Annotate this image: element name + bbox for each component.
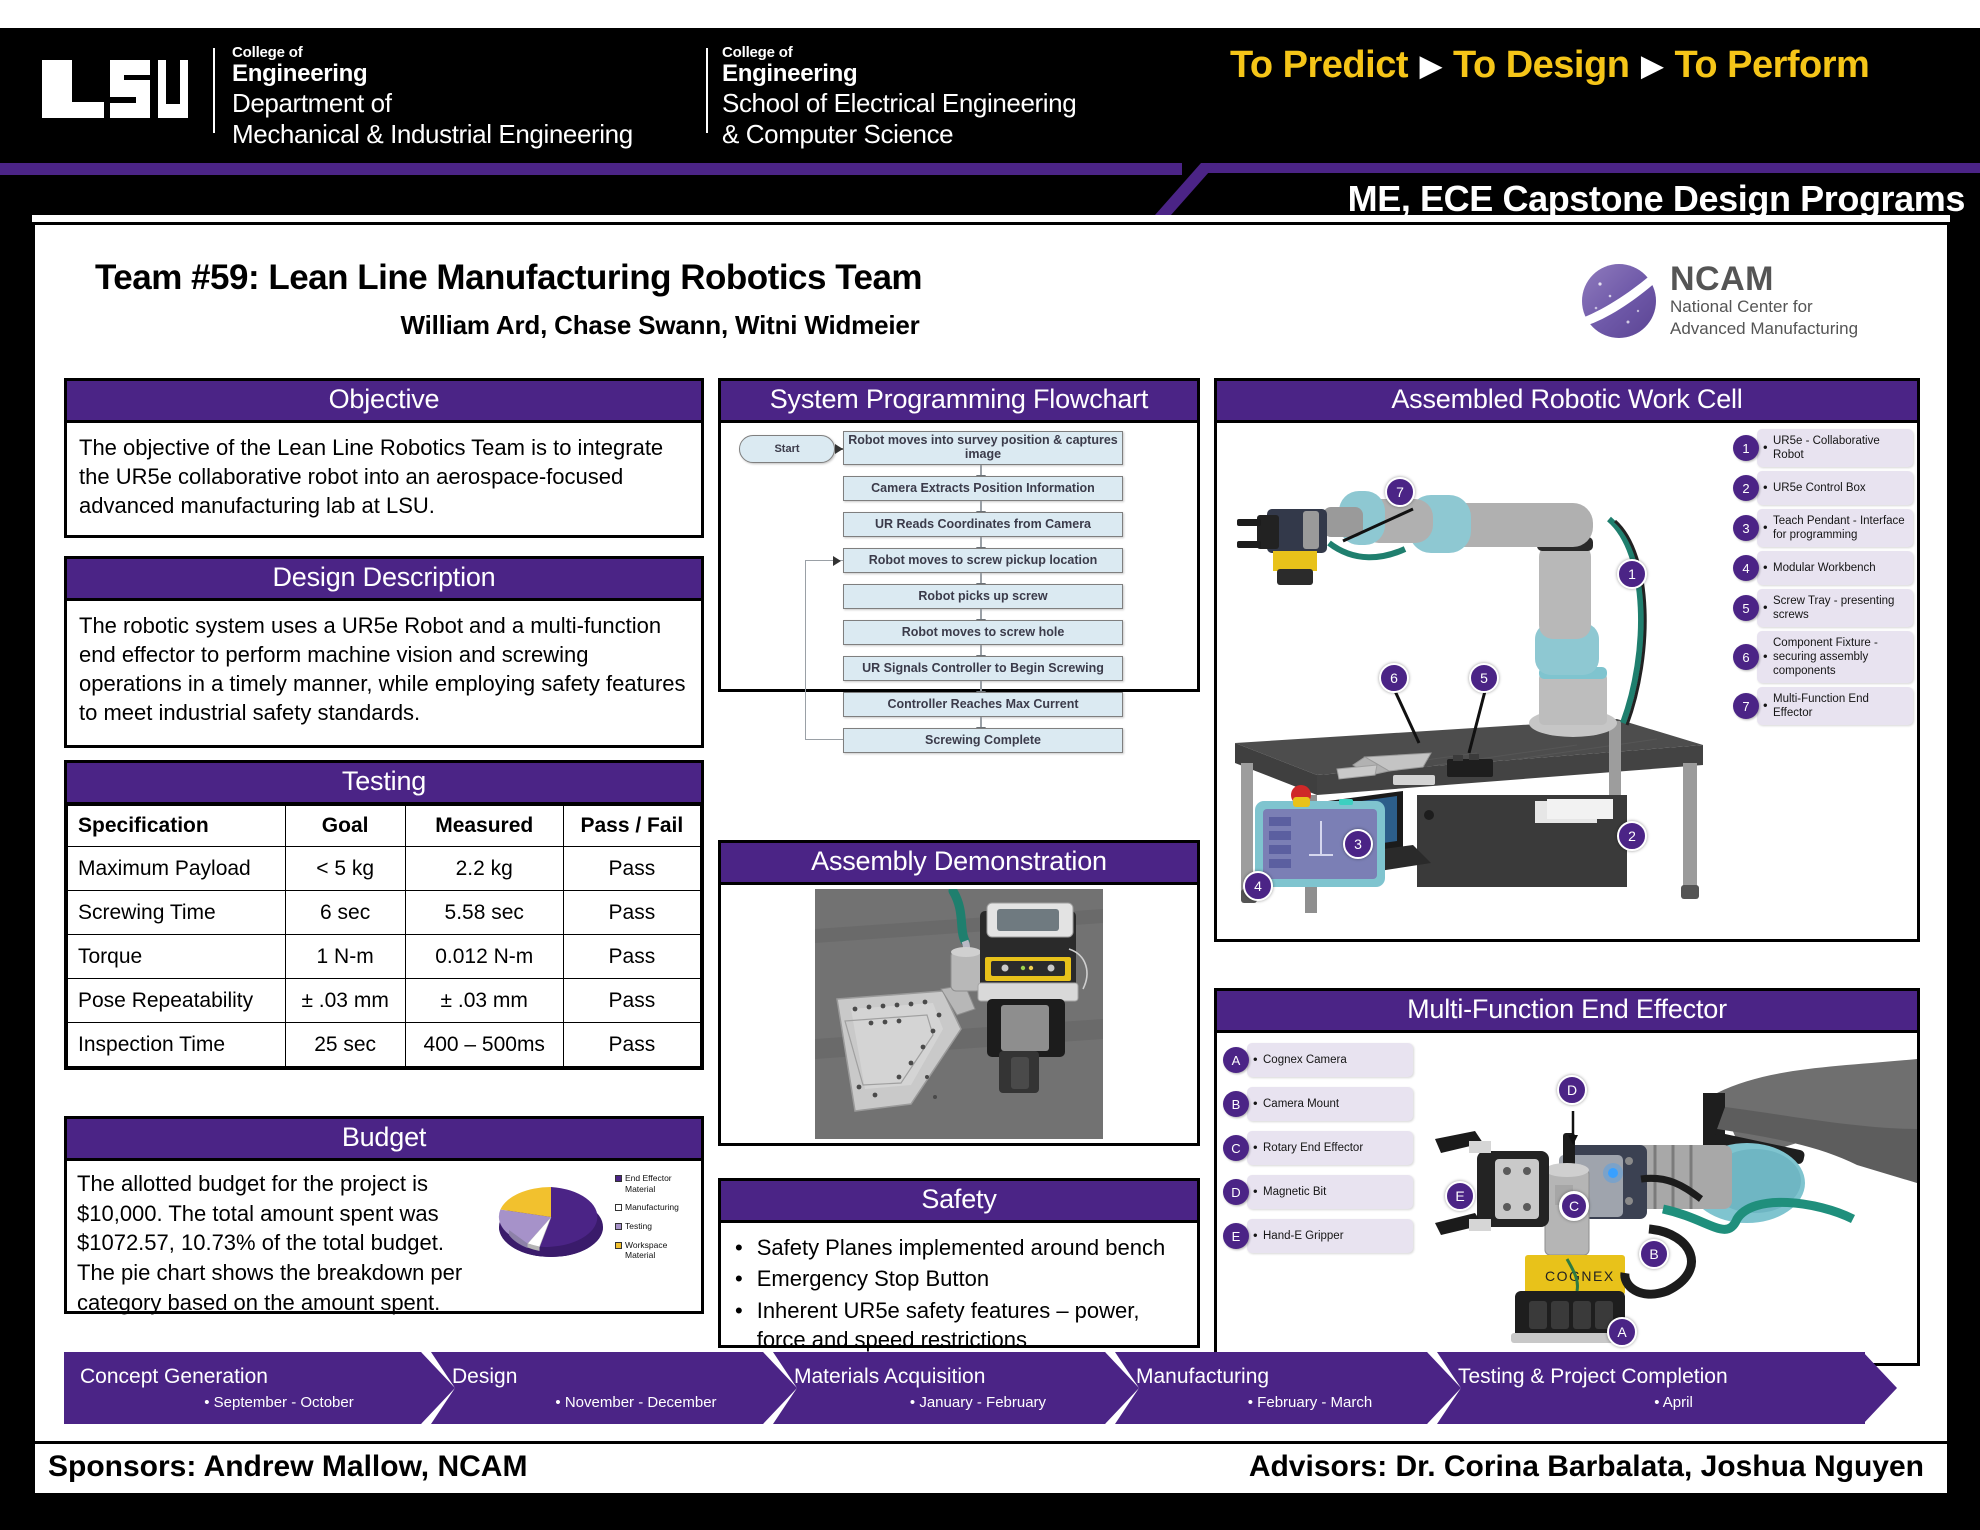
cell-spec: Pose Repeatability	[68, 979, 286, 1023]
flow-node-start: Start	[739, 435, 835, 463]
flow-arrow-8	[980, 717, 982, 728]
legend-entry-2: 2UR5e Control Box	[1733, 471, 1913, 505]
design-body: The robotic system uses a UR5e Robot and…	[67, 601, 701, 745]
legend-badge: B	[1223, 1091, 1249, 1117]
legend-item: End Effector Material	[615, 1173, 691, 1194]
flow-arrow-2	[980, 501, 982, 512]
assembly-photo	[815, 889, 1103, 1139]
pie-chart-graphic	[491, 1179, 611, 1279]
flow-node-4: Robot moves to screw pickup location	[843, 548, 1123, 573]
legend-text: Teach Pendant - Interface for programmin…	[1757, 509, 1913, 547]
cell-spec: Torque	[68, 935, 286, 979]
lsu-logo	[40, 58, 192, 120]
cell-result: Pass	[563, 847, 700, 891]
timeline-date: • January - February	[794, 1394, 1138, 1411]
flow-arrow-6	[980, 645, 982, 656]
ncam-sub1: National Center for	[1670, 296, 1858, 317]
callout-6: 6	[1379, 663, 1409, 693]
budget-body: The allotted budget for the project is $…	[77, 1169, 487, 1317]
assembly-photo-wrap	[721, 885, 1197, 1143]
panel-safety: Safety •Safety Planes implemented around…	[718, 1178, 1200, 1348]
ncam-sub2: Advanced Manufacturing	[1670, 318, 1858, 339]
header-divider-1	[213, 48, 215, 133]
flowchart-canvas: Start Robot moves into survey position &…	[721, 423, 1197, 689]
callout-4: 4	[1243, 871, 1273, 901]
ncam-logo: NCAM National Center for Advanced Manufa…	[1580, 258, 1925, 343]
legend-text: UR5e Control Box	[1757, 471, 1913, 505]
chevron-icon	[1105, 1352, 1139, 1424]
legend-badge: D	[1223, 1179, 1249, 1205]
cell-result: Pass	[563, 891, 700, 935]
legend-item: Workspace Material	[615, 1240, 691, 1261]
timeline-date: • September - October	[80, 1394, 454, 1411]
legend-swatch	[615, 1242, 622, 1249]
timeline-step-4: Manufacturing • February - March	[1120, 1352, 1460, 1424]
triangle-right-icon: ▶	[1420, 52, 1441, 80]
panel-work-cell: Assembled Robotic Work Cell	[1214, 378, 1920, 942]
callout-c: C	[1559, 1191, 1589, 1221]
chevron-icon	[1427, 1352, 1461, 1424]
legend-entry-6: 6Component Fixture - securing assembly c…	[1733, 631, 1913, 683]
advisors-text: Advisors: Dr. Corina Barbalata, Joshua N…	[1249, 1450, 1924, 1484]
timeline-step-5: Testing & Project Completion • April	[1442, 1352, 1865, 1424]
flow-node-6: Robot moves to screw hole	[843, 620, 1123, 645]
legend-badge: 6	[1733, 644, 1759, 670]
callout-a: A	[1607, 1317, 1637, 1347]
legend-text: Modular Workbench	[1757, 551, 1913, 585]
flow-arrow-7	[980, 681, 982, 692]
legend-entry-5: 5Screw Tray - presenting screws	[1733, 589, 1913, 627]
callout-2: 2	[1617, 821, 1647, 851]
legend-label: Workspace Material	[625, 1240, 691, 1261]
safety-title: Safety	[721, 1181, 1197, 1223]
safety-bullet-3: Inherent UR5e safety features – power, f…	[757, 1296, 1183, 1355]
workcell-photo: 7 1 6 5 3 2 4	[1217, 423, 1731, 933]
bullet-icon: •	[735, 1233, 743, 1262]
dept1-college: College of	[232, 44, 633, 61]
flow-node-1: Robot moves into survey position & captu…	[843, 431, 1123, 465]
legend-entry-7: 7Multi-Function End Effector	[1733, 687, 1913, 725]
legend-text: Rotary End Effector	[1247, 1131, 1413, 1165]
legend-badge: A	[1223, 1047, 1249, 1073]
col-specification: Specification	[68, 806, 286, 847]
right-black-margin	[1950, 215, 1980, 1530]
cell-result: Pass	[563, 935, 700, 979]
panel-budget: Budget The allotted budget for the proje…	[64, 1116, 704, 1314]
cell-result: Pass	[563, 1023, 700, 1067]
table-row: Pose Repeatability± .03 mm± .03 mmPass	[68, 979, 701, 1023]
legend-badge: E	[1223, 1223, 1249, 1249]
timeline-label: Testing & Project Completion	[1458, 1365, 1865, 1388]
legend-text: Component Fixture - securing assembly co…	[1757, 631, 1913, 683]
cell-measured: 0.012 N-m	[405, 935, 563, 979]
panel-end-effector: Multi-Function End Effector ACognex Came…	[1214, 988, 1920, 1366]
flow-arrow-4	[980, 573, 982, 584]
table-row: Maximum Payload< 5 kg2.2 kgPass	[68, 847, 701, 891]
legend-badge: 5	[1733, 595, 1759, 621]
legend-swatch	[615, 1175, 622, 1182]
timeline-label: Manufacturing	[1136, 1365, 1460, 1388]
callout-e: E	[1445, 1181, 1475, 1211]
cell-goal: ± .03 mm	[285, 979, 405, 1023]
list-item: •Inherent UR5e safety features – power, …	[735, 1296, 1183, 1355]
ncam-acronym: NCAM	[1670, 262, 1858, 296]
legend-label: End Effector Material	[625, 1173, 691, 1194]
cell-goal: 25 sec	[285, 1023, 405, 1067]
testing-table: Specification Goal Measured Pass / Fail …	[67, 805, 701, 1067]
header-divider-2	[706, 48, 708, 133]
timeline-date: • November - December	[452, 1394, 796, 1411]
timeline-date: • April	[1458, 1394, 1865, 1411]
panel-testing: Testing Specification Goal Measured Pass…	[64, 760, 704, 1070]
design-title: Design Description	[67, 559, 701, 601]
timeline-step-1: Concept Generation • September - October	[64, 1352, 454, 1424]
dept-electrical-block: College of Engineering School of Electri…	[722, 44, 1076, 150]
legend-text: Screw Tray - presenting screws	[1757, 589, 1913, 627]
project-timeline: Concept Generation • September - October…	[64, 1352, 1919, 1424]
flow-arrow-5	[980, 609, 982, 620]
testing-title: Testing	[67, 763, 701, 805]
table-row: Torque1 N-m0.012 N-mPass	[68, 935, 701, 979]
header-purple-rule	[0, 163, 1182, 175]
cell-measured: 400 – 500ms	[405, 1023, 563, 1067]
panel-design-description: Design Description The robotic system us…	[64, 556, 704, 748]
timeline-date: • February - March	[1136, 1394, 1460, 1411]
legend-entry-c: CRotary End Effector	[1223, 1131, 1413, 1165]
flow-loop-arrow	[833, 556, 841, 566]
dept-mechanical-block: College of Engineering Department of Mec…	[232, 44, 633, 150]
callout-d: D	[1557, 1075, 1587, 1105]
callout-7: 7	[1385, 477, 1415, 507]
callout-b: B	[1639, 1239, 1669, 1269]
dept1-name: Mechanical & Industrial Engineering	[232, 119, 633, 150]
flow-node-8: Controller Reaches Max Current	[843, 692, 1123, 717]
panel-objective: Objective The objective of the Lean Line…	[64, 378, 704, 538]
list-item: •Emergency Stop Button	[735, 1264, 1183, 1293]
legend-entry-b: BCamera Mount	[1223, 1087, 1413, 1121]
endeffector-legend: ACognex Camera BCamera Mount CRotary End…	[1217, 1033, 1417, 1363]
triangle-right-icon-2: ▶	[1641, 52, 1662, 80]
endeffector-photo-graphic: COGNEX	[1417, 1033, 1917, 1363]
tagline-design: To Design	[1453, 44, 1629, 87]
bullet-icon: •	[735, 1296, 743, 1355]
endeffector-photo: COGNEX D E C B A	[1417, 1033, 1917, 1363]
cell-measured: 5.58 sec	[405, 891, 563, 935]
objective-title: Objective	[67, 381, 701, 423]
cell-spec: Screwing Time	[68, 891, 286, 935]
chevron-icon-end	[1863, 1352, 1897, 1424]
workcell-title: Assembled Robotic Work Cell	[1217, 381, 1917, 423]
timeline-label: Design	[452, 1365, 796, 1388]
dept2-school: School of Electrical Engineering	[722, 88, 1076, 119]
tagline-perform: To Perform	[1674, 44, 1869, 87]
safety-bullet-2: Emergency Stop Button	[757, 1264, 989, 1293]
legend-text: Hand-E Gripper	[1247, 1219, 1413, 1253]
cell-goal: < 5 kg	[285, 847, 405, 891]
cell-goal: 6 sec	[285, 891, 405, 935]
cell-spec: Inspection Time	[68, 1023, 286, 1067]
chevron-icon	[763, 1352, 797, 1424]
timeline-step-3: Materials Acquisition • January - Februa…	[778, 1352, 1138, 1424]
flow-arrow-1	[980, 465, 982, 476]
flow-node-5: Robot picks up screw	[843, 584, 1123, 609]
legend-badge: 3	[1733, 515, 1759, 541]
panel-assembly-demonstration: Assembly Demonstration	[718, 840, 1200, 1146]
safety-bullet-list: •Safety Planes implemented around bench …	[735, 1233, 1183, 1355]
timeline-label: Materials Acquisition	[794, 1365, 1138, 1388]
legend-entry-d: DMagnetic Bit	[1223, 1175, 1413, 1209]
legend-text: Camera Mount	[1247, 1087, 1413, 1121]
timeline-label: Concept Generation	[80, 1365, 454, 1388]
flow-arrow-3	[980, 537, 982, 548]
col-passfail: Pass / Fail	[563, 806, 700, 847]
legend-entry-1: 1UR5e - Collaborative Robot	[1733, 429, 1913, 467]
flow-node-3: UR Reads Coordinates from Camera	[843, 512, 1123, 537]
cognex-label: COGNEX	[1545, 1268, 1615, 1284]
assembly-title: Assembly Demonstration	[721, 843, 1197, 885]
sponsors-text: Sponsors: Andrew Mallow, NCAM	[48, 1450, 527, 1484]
legend-label: Manufacturing	[625, 1202, 679, 1213]
col-measured: Measured	[405, 806, 563, 847]
table-header-row: Specification Goal Measured Pass / Fail	[68, 806, 701, 847]
legend-swatch	[615, 1204, 622, 1211]
legend-item: Manufacturing	[615, 1202, 691, 1213]
legend-badge: 2	[1733, 475, 1759, 501]
table-row: Screwing Time6 sec5.58 secPass	[68, 891, 701, 935]
cell-measured: ± .03 mm	[405, 979, 563, 1023]
legend-item: Testing	[615, 1221, 691, 1232]
tagline-predict: To Predict	[1230, 44, 1408, 87]
flow-start-arrow	[835, 444, 843, 454]
legend-entry-e: EHand-E Gripper	[1223, 1219, 1413, 1253]
legend-badge: 4	[1733, 555, 1759, 581]
cell-result: Pass	[563, 979, 700, 1023]
legend-swatch	[615, 1223, 622, 1230]
legend-label: Testing	[625, 1221, 652, 1232]
budget-pie-chart: End Effector Material Manufacturing Test…	[491, 1169, 691, 1294]
callout-1: 1	[1617, 559, 1647, 589]
dept1-engineering: Engineering	[232, 61, 633, 87]
legend-badge: 7	[1733, 693, 1759, 719]
flow-node-9: Screwing Complete	[843, 728, 1123, 753]
timeline-step-2: Design • November - December	[436, 1352, 796, 1424]
tagline: To Predict ▶ To Design ▶ To Perform	[1230, 44, 1970, 87]
budget-title: Budget	[67, 1119, 701, 1161]
author-list: William Ard, Chase Swann, Witni Widmeier	[95, 310, 1225, 341]
bullet-icon: •	[735, 1264, 743, 1293]
program-title: ME, ECE Capstone Design Programs	[1215, 178, 1975, 226]
dept2-school-cont: & Computer Science	[722, 119, 1076, 150]
page-title: Team #59: Lean Line Manufacturing Roboti…	[95, 258, 1225, 298]
left-black-margin	[0, 215, 32, 1530]
chevron-icon	[421, 1352, 455, 1424]
flow-loop-line	[805, 560, 843, 740]
callout-5: 5	[1469, 663, 1499, 693]
legend-text: UR5e - Collaborative Robot	[1757, 429, 1913, 467]
legend-text: Cognex Camera	[1247, 1043, 1413, 1077]
list-item: •Safety Planes implemented around bench	[735, 1233, 1183, 1262]
dept2-engineering: Engineering	[722, 61, 1076, 87]
ncam-globe-icon	[1580, 262, 1658, 340]
callout-3: 3	[1343, 829, 1373, 859]
cell-goal: 1 N-m	[285, 935, 405, 979]
table-row: Inspection Time25 sec400 – 500msPass	[68, 1023, 701, 1067]
legend-entry-a: ACognex Camera	[1223, 1043, 1413, 1077]
flow-node-7: UR Signals Controller to Begin Screwing	[843, 656, 1123, 681]
legend-entry-3: 3Teach Pendant - Interface for programmi…	[1733, 509, 1913, 547]
pie-legend: End Effector Material Manufacturing Test…	[615, 1173, 691, 1269]
legend-entry-4: 4Modular Workbench	[1733, 551, 1913, 585]
workcell-legend: 1UR5e - Collaborative Robot 2UR5e Contro…	[1731, 423, 1917, 939]
panel-flowchart: System Programming Flowchart Start Robot…	[718, 378, 1200, 692]
dept1-department: Department of	[232, 88, 633, 119]
endeffector-title: Multi-Function End Effector	[1217, 991, 1917, 1033]
legend-badge: 1	[1733, 435, 1759, 461]
legend-badge: C	[1223, 1135, 1249, 1161]
capstone-poster: College of Engineering Department of Mec…	[0, 0, 1980, 1530]
cell-spec: Maximum Payload	[68, 847, 286, 891]
legend-text: Multi-Function End Effector	[1757, 687, 1913, 725]
cell-measured: 2.2 kg	[405, 847, 563, 891]
safety-bullet-1: Safety Planes implemented around bench	[757, 1233, 1165, 1262]
flowchart-title: System Programming Flowchart	[721, 381, 1197, 423]
dept2-college: College of	[722, 44, 1076, 61]
flow-node-2: Camera Extracts Position Information	[843, 476, 1123, 501]
legend-text: Magnetic Bit	[1247, 1175, 1413, 1209]
objective-body: The objective of the Lean Line Robotics …	[67, 423, 701, 535]
col-goal: Goal	[285, 806, 405, 847]
